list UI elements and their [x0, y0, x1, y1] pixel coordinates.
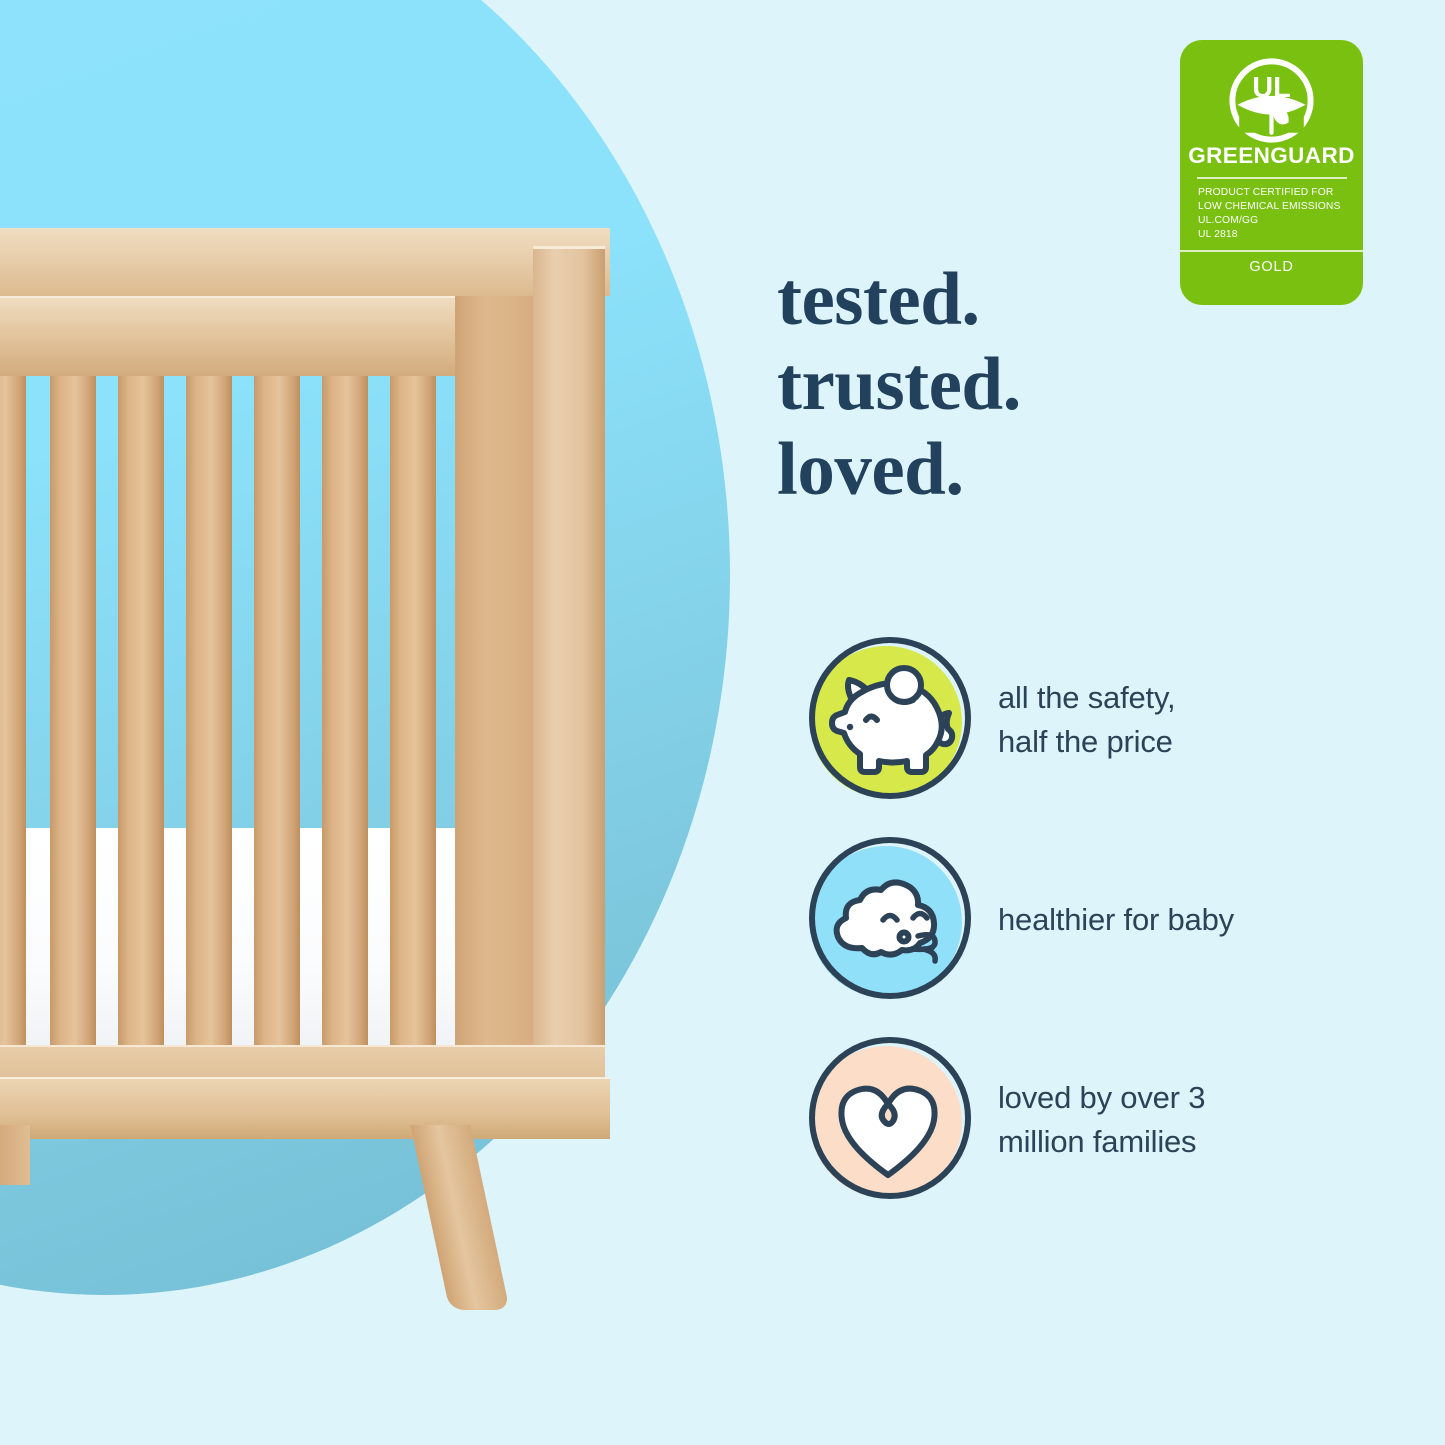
feature-label: all the safety, half the price	[998, 630, 1338, 810]
feature-2-line-1: healthier for baby	[998, 898, 1234, 942]
svg-text:UL: UL	[1252, 72, 1291, 104]
headline-line-3: loved.	[777, 428, 1297, 513]
heart-icon	[800, 1030, 980, 1210]
badge-divider	[1197, 177, 1347, 179]
badge-line-2: LOW CHEMICAL EMISSIONS	[1198, 200, 1363, 214]
crib-slat	[50, 285, 96, 1070]
badge-line-4: UL 2818	[1198, 228, 1363, 242]
ul-leaf-icon: UL	[1229, 58, 1314, 143]
crib-side-panel	[455, 296, 535, 1086]
badge-title: GREENGUARD	[1180, 145, 1363, 168]
crib-slat	[390, 285, 436, 1070]
page-title: tested. trusted. loved.	[777, 258, 1297, 512]
crib-slat	[254, 285, 300, 1070]
feature-1-line-1: all the safety,	[998, 676, 1175, 720]
feature-1-line-2: half the price	[998, 720, 1175, 764]
wooden-baby-crib	[0, 0, 700, 1340]
feature-label: loved by over 3 million families	[998, 1030, 1338, 1210]
feature-list: all the safety, half the price	[800, 630, 1360, 1230]
badge-detail-lines: PRODUCT CERTIFIED FOR LOW CHEMICAL EMISS…	[1180, 186, 1363, 242]
feature-3-line-2: million families	[998, 1120, 1205, 1164]
badge-divider-lower	[1180, 250, 1363, 252]
crib-slat	[0, 285, 26, 1070]
crib-slat	[322, 285, 368, 1070]
feature-item: loved by over 3 million families	[800, 1030, 1360, 1230]
feature-item: all the safety, half the price	[800, 630, 1360, 830]
feature-3-line-1: loved by over 3	[998, 1076, 1205, 1120]
headline-line-1: tested.	[777, 258, 1297, 343]
feature-item: healthier for baby	[800, 830, 1360, 1030]
crib-slat	[118, 285, 164, 1070]
crib-leg-left	[0, 1125, 30, 1185]
badge-line-3: UL.COM/GG	[1198, 214, 1363, 228]
promo-image: UL GREENGUARD PRODUCT CERTIFIED FOR LOW …	[0, 0, 1445, 1445]
crib-slat	[186, 285, 232, 1070]
badge-line-1: PRODUCT CERTIFIED FOR	[1198, 186, 1363, 200]
blowing-cloud-icon	[800, 830, 980, 1010]
feature-label: healthier for baby	[998, 830, 1338, 1010]
crib-corner-post	[533, 246, 605, 1089]
headline-line-2: trusted.	[777, 343, 1297, 428]
crib-top-box-rail	[0, 228, 610, 296]
crib-leg	[410, 1125, 509, 1310]
crib-base-rail-lower	[0, 1077, 610, 1139]
crib-slats	[0, 285, 490, 1070]
piggy-bank-icon	[800, 630, 980, 810]
